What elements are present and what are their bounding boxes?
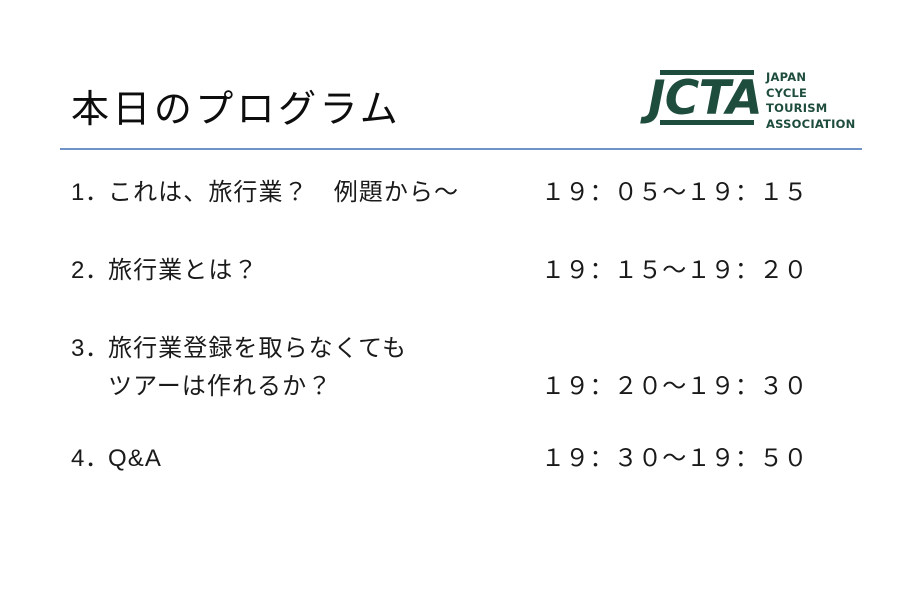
logo-line-association: ASSOCIATION [766, 117, 856, 133]
agenda-item-time: １９：３０〜１９：５０ [541, 440, 808, 478]
agenda-item: 2． 旅行業とは？ １９：１５〜１９：２０ [0, 248, 900, 326]
agenda-item-label: これは、旅行業？ 例題から〜 [108, 174, 459, 212]
jcta-logo-mark: JCTA [648, 66, 754, 136]
agenda-item: 3． 旅行業登録を取らなくても ツアーは作れるか？ １９：２０〜１９：３０ [0, 326, 900, 436]
agenda-item-label-line1: 旅行業登録を取らなくても [108, 335, 407, 362]
agenda-item-time: １９：０５〜１９：１５ [541, 174, 808, 212]
agenda-item: 1． これは、旅行業？ 例題から〜 １９：０５〜１９：１５ [0, 168, 900, 248]
agenda-item-label: 旅行業とは？ [108, 252, 258, 290]
agenda-item-number: 3． [71, 330, 108, 368]
agenda-item: 4． Q&A １９：３０〜１９：５０ [0, 436, 900, 496]
agenda-item-time: １９：２０〜１９：３０ [541, 368, 808, 406]
agenda-item-text: 1． これは、旅行業？ 例題から〜 [71, 174, 459, 212]
title-divider [60, 148, 862, 150]
agenda-item-number: 4． [71, 440, 108, 478]
agenda-item-label: Q&A [108, 440, 162, 478]
agenda-item-text: 2． 旅行業とは？ [71, 252, 258, 290]
agenda-item-number: 2． [71, 252, 108, 290]
agenda-item-text: 3． 旅行業登録を取らなくても ツアーは作れるか？ [71, 330, 407, 406]
agenda-item-number: 1． [71, 174, 108, 212]
page-title: 本日のプログラム [71, 86, 401, 134]
logo-line-japan: JAPAN [766, 70, 856, 86]
jcta-logo: JCTA JAPAN CYCLE TOURISM ASSOCIATION [648, 66, 856, 136]
presentation-slide: 本日のプログラム JCTA JAPAN CYCLE TOURISM ASSOCI… [0, 0, 900, 600]
logo-line-tourism: TOURISM [766, 101, 856, 117]
agenda-item-time: １９：１５〜１９：２０ [541, 252, 808, 290]
logo-line-cycle: CYCLE [766, 86, 856, 102]
agenda-item-text: 4． Q&A [71, 440, 162, 478]
agenda-list: 1． これは、旅行業？ 例題から〜 １９：０５〜１９：１５ 2． 旅行業とは？ … [0, 168, 900, 496]
agenda-item-label-line2: ツアーは作れるか？ [108, 368, 407, 406]
logo-organization-name: JAPAN CYCLE TOURISM ASSOCIATION [766, 66, 856, 132]
agenda-item-label: 旅行業登録を取らなくても ツアーは作れるか？ [108, 330, 407, 406]
logo-bar-bottom-icon [660, 120, 754, 125]
